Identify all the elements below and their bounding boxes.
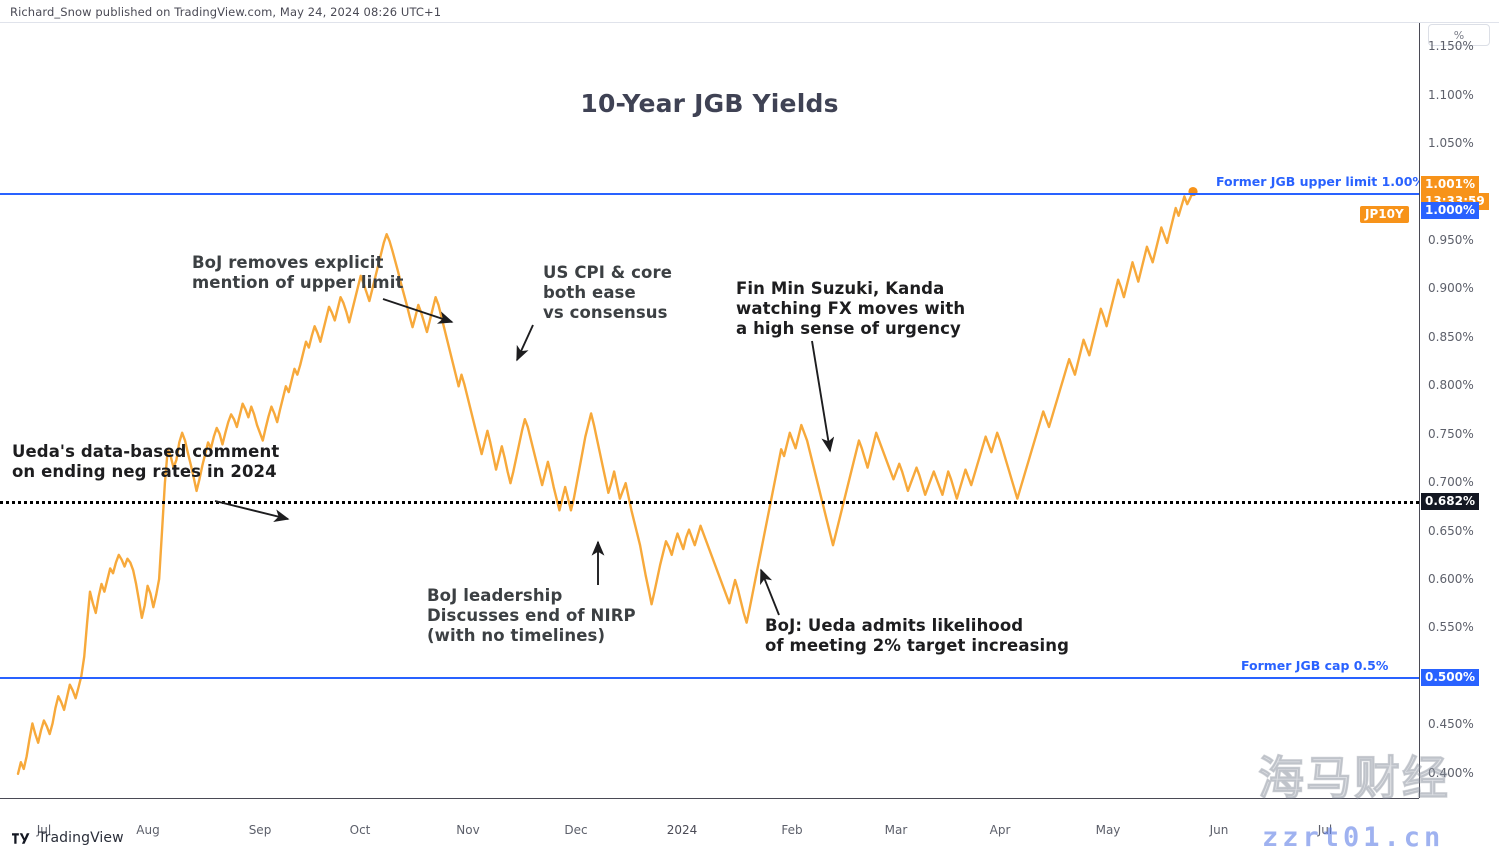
pane-bottom-border [0, 798, 1419, 799]
price-scale[interactable]: % 1.150%1.100%1.050%0.950%0.900%0.850%0.… [1420, 23, 1499, 798]
time-tick-label: Nov [456, 823, 479, 837]
time-tick-label: 2024 [667, 823, 698, 837]
annotation-boj-ueda-2pct-target: BoJ: Ueda admits likelihood of meeting 2… [765, 616, 1069, 656]
price-tick-label: 0.750% [1428, 427, 1474, 441]
time-tick-label: Aug [136, 823, 159, 837]
time-tick-label: Sep [249, 823, 272, 837]
chart-screenshot: Richard_Snow published on TradingView.co… [0, 0, 1499, 857]
attribution-text: Richard_Snow published on TradingView.co… [10, 5, 441, 19]
price-tick-label: 0.700% [1428, 475, 1474, 489]
price-tick-label: 0.850% [1428, 330, 1474, 344]
time-tick-label: May [1096, 823, 1121, 837]
chart-frame: 10-Year JGB Yields Former JGB upper limi… [0, 22, 1499, 822]
tradingview-logo-icon [12, 832, 31, 845]
time-tick-label: Feb [781, 823, 802, 837]
annotation-boj-removes-upper-limit: BoJ removes explicit mention of upper li… [192, 253, 403, 293]
time-tick-label: Apr [990, 823, 1011, 837]
price-tick-label: 0.600% [1428, 572, 1474, 586]
last-price-tag: 1.001% [1421, 176, 1479, 193]
annotation-us-cpi-core-ease: US CPI & core both ease vs consensus [543, 263, 672, 323]
last-price-value: 1.001% [1425, 177, 1475, 191]
symbol-badge: JP10Y [1360, 206, 1409, 223]
price-tick-label: 1.100% [1428, 88, 1474, 102]
time-tick-label: Oct [350, 823, 371, 837]
dotted-level-price-tag: 0.682% [1421, 493, 1479, 510]
annotation-fin-min-suzuki-kanda: Fin Min Suzuki, Kanda watching FX moves … [736, 279, 965, 339]
price-tick-label: 0.900% [1428, 281, 1474, 295]
price-tick-label: 1.050% [1428, 136, 1474, 150]
footer: TradingView [12, 830, 124, 846]
time-tick-label: Dec [564, 823, 587, 837]
price-tick-label: 0.550% [1428, 620, 1474, 634]
lower-cap-price-tag: 0.500% [1421, 669, 1479, 686]
footer-brand: TradingView [38, 830, 124, 846]
price-tick-label: 0.950% [1428, 233, 1474, 247]
time-tick-label: Mar [885, 823, 908, 837]
annotation-boj-leadership-nirp: BoJ leadership Discusses end of NIRP (wi… [427, 586, 636, 646]
time-scale[interactable]: JulAugSepOctNovDec2024FebMarAprMayJunJul [0, 821, 1419, 845]
watermark-url: zzrt01.cn [1262, 822, 1444, 853]
price-tick-label: 1.150% [1428, 39, 1474, 53]
price-tick-label: 0.650% [1428, 524, 1474, 538]
watermark-chinese: 海马财经 [1258, 742, 1450, 808]
upper-limit-price-tag: 1.000% [1421, 202, 1479, 219]
annotation-ueda-data-based-comment: Ueda's data-based comment on ending neg … [12, 442, 279, 482]
annotation-arrows [0, 23, 1419, 798]
chart-pane[interactable]: 10-Year JGB Yields Former JGB upper limi… [0, 23, 1419, 798]
price-tick-label: 0.800% [1428, 378, 1474, 392]
time-tick-label: Jun [1210, 823, 1229, 837]
price-tick-label: 0.450% [1428, 717, 1474, 731]
